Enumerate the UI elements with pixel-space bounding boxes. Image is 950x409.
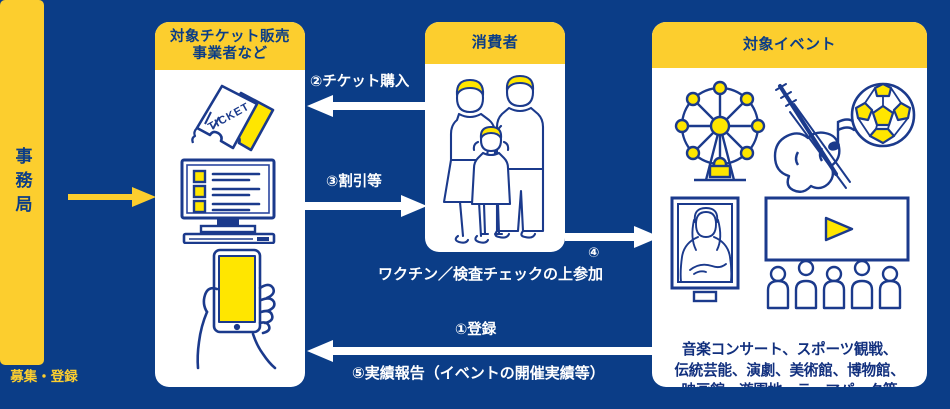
panel-events-title: 対象イベント: [652, 22, 927, 68]
panel-consumers-title: 消費者: [425, 22, 565, 64]
ticket-purchase-arrow-icon: [307, 95, 427, 117]
panel-sellers-title: 対象チケット販売 事業者など: [155, 22, 305, 70]
panel-events: 対象イベント: [652, 22, 927, 387]
panel-events-body: 音楽コンサート、スポーツ観戦、 伝統芸能、演劇、美術館、博物館、 映画館、遊園地…: [652, 68, 927, 387]
panel-sellers-body: TICKET: [155, 70, 305, 387]
panel-consumers: 消費者: [425, 22, 565, 252]
soccer-ball-icon: [848, 80, 918, 150]
events-caption-line2: 伝統芸能、演劇、美術館、博物館、: [652, 361, 927, 382]
ticket-purchase-label: ②チケット購入: [310, 70, 409, 91]
report-arrow-icon: [307, 340, 657, 362]
ticket-icon: TICKET: [177, 80, 287, 158]
panel-consumers-body: [425, 64, 565, 252]
hand-smartphone-icon: [187, 242, 293, 382]
participation-arrow-icon: [565, 226, 660, 248]
discount-arrow-icon: [305, 195, 427, 217]
family-illustration-icon: [433, 68, 557, 248]
ferris-wheel-icon: [666, 80, 774, 190]
office-label: 事務局: [14, 147, 31, 219]
framed-painting-icon: [668, 196, 748, 306]
events-caption-line1: 音楽コンサート、スポーツ観戦、: [652, 340, 927, 361]
desktop-checklist-icon: [179, 158, 283, 244]
recruit-flow-label: 募集・登録: [0, 365, 88, 385]
office-bar: 事務局: [0, 0, 44, 365]
panel-sellers-title-text: 対象チケット販売 事業者など: [170, 29, 290, 63]
diagram-canvas: 事務局 募集・登録 ②チケット購入 ③割引等 ④ ワクチン／検査チェックの上参加…: [0, 0, 950, 409]
registration-label: ①登録: [455, 318, 496, 339]
vaccine-check-label: ワクチン／検査チェックの上参加: [378, 263, 603, 284]
panel-sellers-title-line2: 事業者など: [193, 46, 268, 62]
discount-label: ③割引等: [326, 170, 382, 191]
events-caption: 音楽コンサート、スポーツ観戦、 伝統芸能、演劇、美術館、博物館、 映画館、遊園地…: [652, 340, 927, 387]
audience-icon: [764, 258, 914, 310]
panel-sellers: 対象チケット販売 事業者など TICKET: [155, 22, 305, 387]
step4-number-label: ④: [588, 245, 599, 261]
panel-consumers-title-text: 消費者: [472, 34, 519, 52]
events-caption-line3: 映画館、遊園地・テーマパーク等: [652, 381, 927, 387]
panel-events-title-text: 対象イベント: [743, 36, 836, 54]
recruit-arrow-icon: [68, 186, 156, 208]
panel-sellers-title-line1: 対象チケット販売: [170, 29, 290, 45]
report-label: ⑤実績報告（イベントの開催実績等）: [352, 362, 605, 383]
